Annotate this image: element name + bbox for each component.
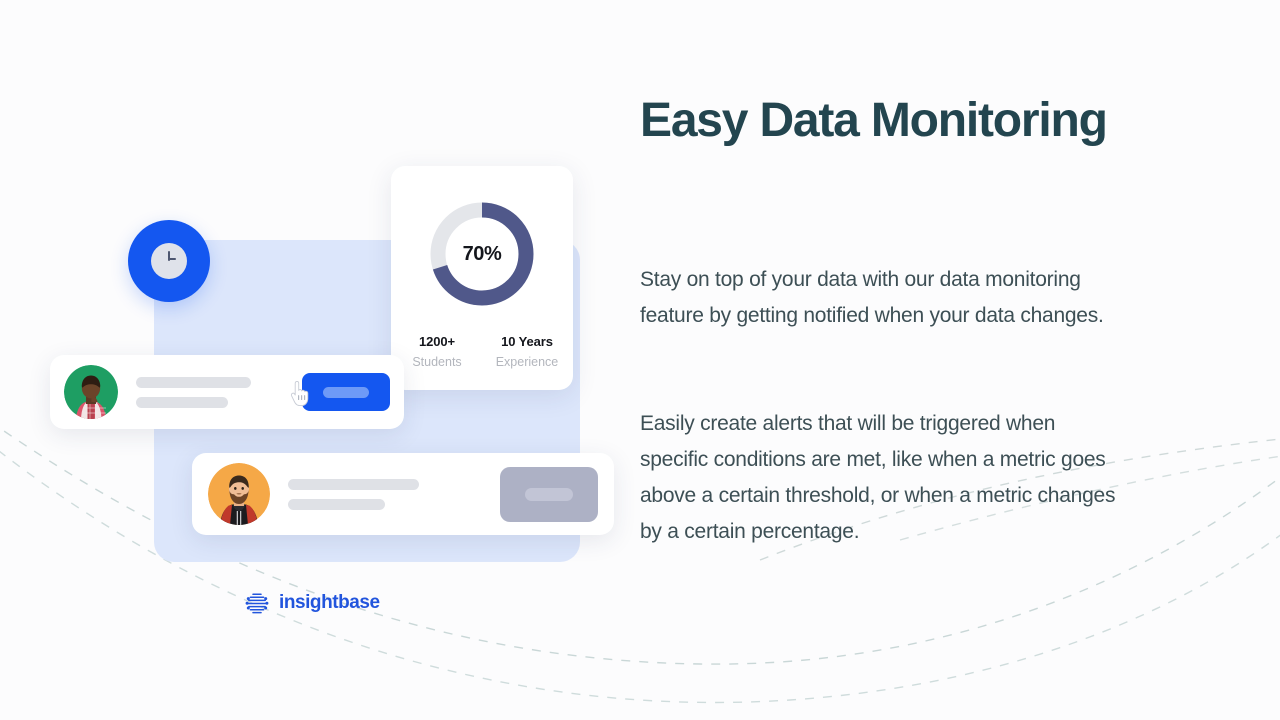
muted-action-button[interactable] <box>500 467 598 522</box>
description-paragraph-1: Stay on top of your data with our data m… <box>640 262 1125 334</box>
donut-value-label: 70% <box>426 198 538 310</box>
message-row <box>50 355 404 429</box>
placeholder-bar <box>136 377 251 388</box>
stat-value: 1200+ <box>419 334 455 349</box>
clock-badge <box>128 220 210 302</box>
avatar-man-plaid-shirt <box>64 365 118 419</box>
illustration-panel: 70% 1200+ Students 10 Years Experience <box>0 0 620 720</box>
stat-experience: 10 Years Experience <box>493 334 561 369</box>
stat-label: Students <box>412 355 461 369</box>
stats-row: 1200+ Students 10 Years Experience <box>391 334 573 369</box>
placeholder-bar <box>288 499 385 510</box>
stat-students: 1200+ Students <box>403 334 471 369</box>
stat-card: 70% 1200+ Students 10 Years Experience <box>391 166 573 390</box>
clock-icon <box>151 243 187 279</box>
page-title: Easy Data Monitoring <box>640 90 1120 151</box>
brand-name: insightbase <box>279 592 380 614</box>
primary-action-button[interactable] <box>302 373 390 411</box>
striped-sphere-logo-icon <box>244 590 270 616</box>
stat-label: Experience <box>496 355 559 369</box>
stat-value: 10 Years <box>501 334 553 349</box>
promo-slide: 70% 1200+ Students 10 Years Experience <box>0 0 1280 720</box>
text-column: Easy Data Monitoring Stay on top of your… <box>640 0 1200 720</box>
button-label-placeholder <box>525 488 573 501</box>
placeholder-bar <box>288 479 419 490</box>
donut-chart: 70% <box>426 198 538 310</box>
placeholder-bar <box>136 397 228 408</box>
brand-lockup: insightbase <box>244 590 380 616</box>
message-row <box>192 453 614 535</box>
avatar-bearded-man-hoodie <box>208 463 270 525</box>
description-paragraph-2: Easily create alerts that will be trigge… <box>640 406 1125 550</box>
placeholder-bars <box>288 479 500 510</box>
pointer-cursor-icon <box>290 381 312 407</box>
button-label-placeholder <box>323 387 369 398</box>
placeholder-bars <box>136 377 302 408</box>
